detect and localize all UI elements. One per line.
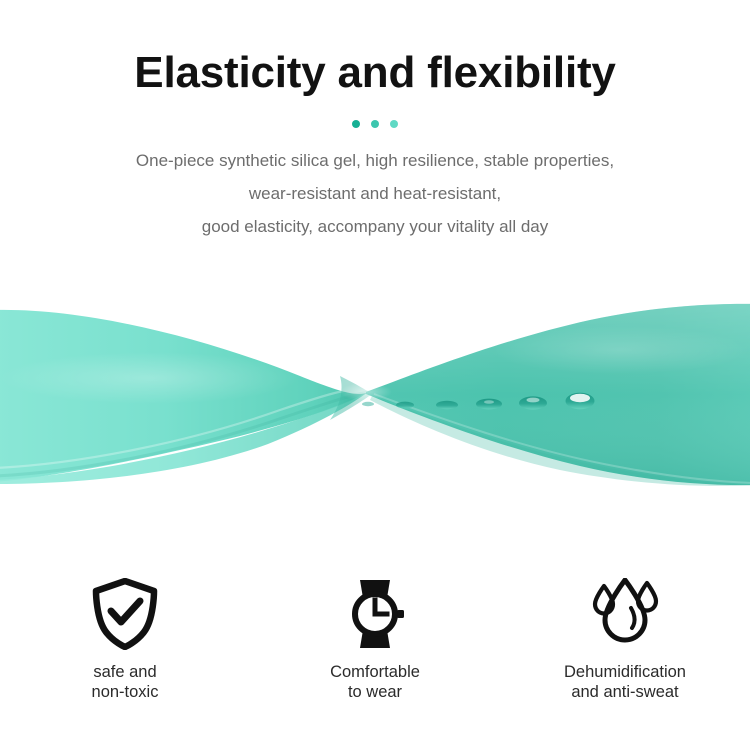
feature-caption-comfortable-to-wear: Comfortable to wear — [330, 662, 420, 702]
band-left-gloss — [0, 352, 300, 404]
caption-line-1: safe and — [92, 662, 159, 682]
dot-3-icon — [390, 120, 398, 128]
product-feature-banner: Elasticity and flexibility One-piece syn… — [0, 0, 750, 750]
feature-comfortable-to-wear: Comfortable to wear — [250, 578, 500, 702]
adjustment-hole-4-highlight — [484, 400, 494, 404]
band-twist-gloss — [340, 383, 392, 401]
description-line-2: wear-resistant and heat-resistant, — [0, 177, 750, 210]
adjustment-hole-0 — [362, 402, 374, 406]
adjustment-hole-6-highlight — [570, 394, 590, 402]
feature-dehumidification: Dehumidification and anti-sweat — [500, 578, 750, 702]
adjustment-hole-5-highlight — [527, 398, 540, 403]
page-title: Elasticity and flexibility — [0, 46, 750, 100]
caption-line-1: Dehumidification — [564, 662, 686, 682]
product-image-silicone-band — [0, 280, 750, 510]
feature-row: safe and non-toxic — [0, 578, 750, 702]
dot-1-icon — [352, 120, 360, 128]
caption-line-2: non-toxic — [92, 682, 159, 702]
caption-line-2: and anti-sweat — [564, 682, 686, 702]
wristwatch-icon — [339, 578, 411, 650]
description-line-1: One-piece synthetic silica gel, high res… — [0, 144, 750, 177]
adjustment-hole-3 — [436, 401, 458, 409]
caption-line-2: to wear — [330, 682, 420, 702]
description-text: One-piece synthetic silica gel, high res… — [0, 144, 750, 243]
feature-caption-safe-non-toxic: safe and non-toxic — [92, 662, 159, 702]
feature-caption-dehumidification: Dehumidification and anti-sweat — [564, 662, 686, 702]
adjustment-hole-2 — [396, 402, 414, 409]
caption-line-1: Comfortable — [330, 662, 420, 682]
feature-safe-non-toxic: safe and non-toxic — [0, 578, 250, 702]
description-line-3: good elasticity, accompany your vitality… — [0, 210, 750, 243]
water-droplets-icon — [587, 578, 663, 650]
shield-check-icon — [91, 578, 159, 650]
band-right-gloss — [490, 326, 750, 374]
dot-separator — [0, 120, 750, 128]
dot-2-icon — [371, 120, 379, 128]
